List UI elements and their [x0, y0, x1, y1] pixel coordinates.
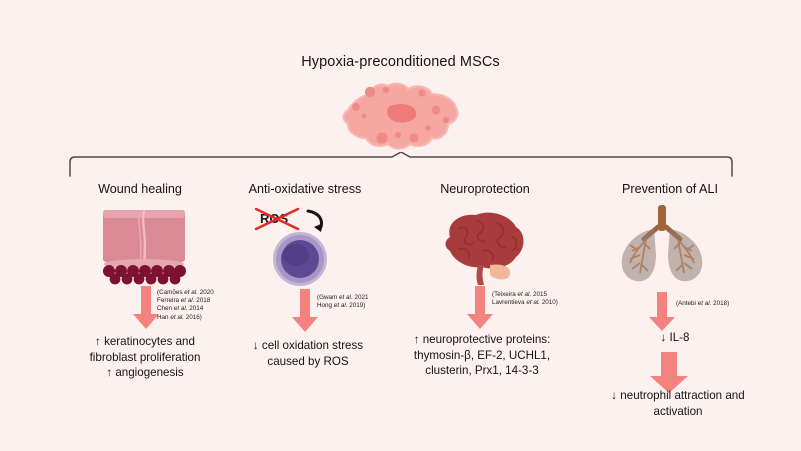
column-header-neuroprotection: Neuroprotection: [385, 182, 585, 196]
basal-cells: [103, 265, 186, 284]
branch-bracket: [66, 152, 736, 178]
ros-blocked-cell-illustration: ROS: [248, 203, 352, 289]
arrow-anti-oxidative-stress: [291, 289, 319, 338]
column-header-prevention-of-ali: Prevention of ALI: [570, 182, 770, 196]
arrow-wound-healing: [132, 286, 160, 335]
brain-illustration: [432, 207, 532, 287]
column-header-anti-oxidative-stress: Anti-oxidative stress: [205, 182, 405, 196]
msc-cell-illustration: [336, 80, 464, 152]
outcome-neuroprotection: ↑ neuroprotective proteins: thymosin-β, …: [392, 332, 572, 379]
page-title: Hypoxia-preconditioned MSCs: [0, 54, 801, 70]
skin-tissue-illustration: [95, 208, 193, 286]
outcome-neutrophil: ↓ neutrophil attraction and activation: [578, 388, 778, 419]
arrow-neuroprotection: [466, 286, 494, 335]
citations-anti-oxidative-stress: (Gwam et al. 2021 Hong et al. 2019): [317, 294, 368, 310]
citations-prevention-of-ali: (Antebi et al. 2018): [676, 300, 729, 308]
lungs-illustration: [610, 203, 714, 287]
citations-neuroprotection: (Teixeira et al. 2015 Lavrentieva et al.…: [492, 291, 558, 307]
outcome-anti-oxidative-stress: ↓ cell oxidation stress caused by ROS: [222, 338, 394, 369]
figure-canvas: Hypoxia-preconditioned MSCs: [0, 0, 801, 451]
outcome-wound-healing: ↑ keratinocytes and fibroblast prolifera…: [48, 334, 242, 381]
citations-wound-healing: (Camões et al. 2020 Ferreira et al. 2018…: [157, 289, 214, 322]
msc-nucleus: [387, 104, 416, 123]
outcome-il8: ↓ IL-8: [600, 330, 750, 346]
